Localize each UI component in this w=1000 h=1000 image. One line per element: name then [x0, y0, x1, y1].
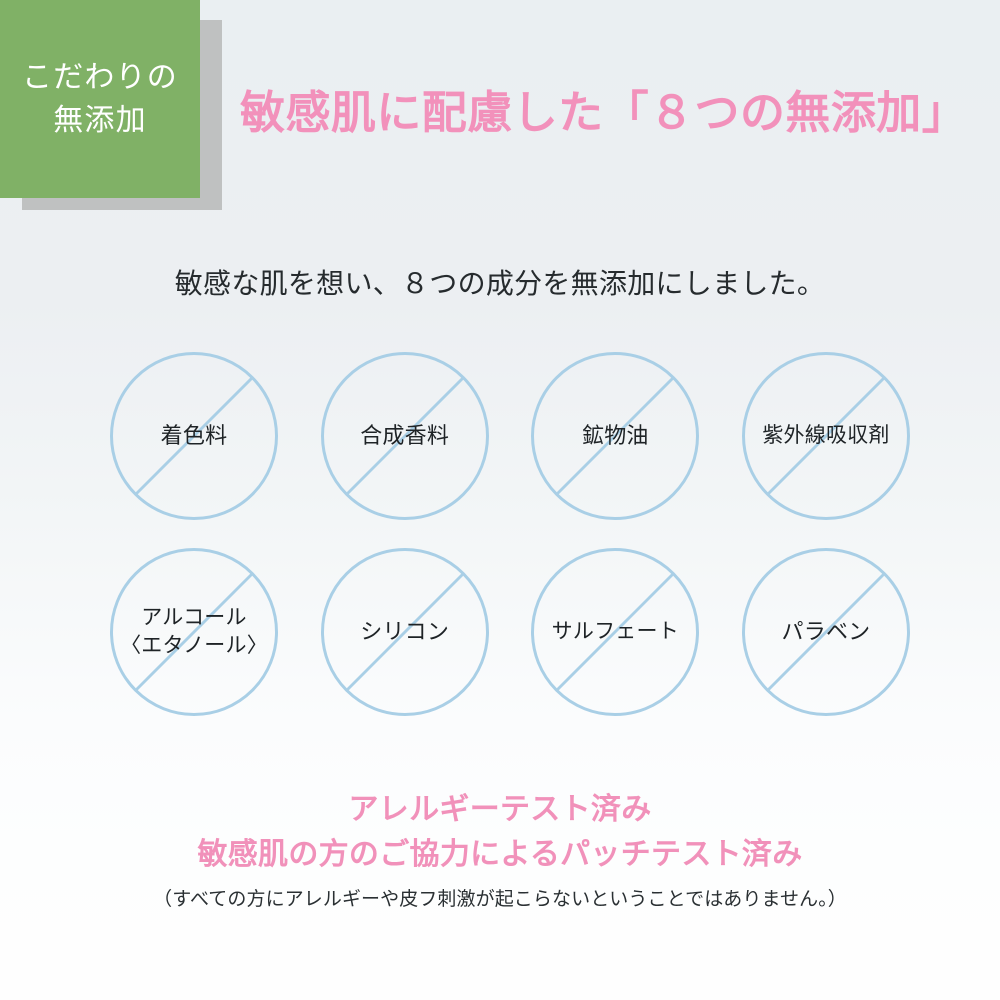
- free-from-label: パラベン: [782, 617, 871, 646]
- badge-green-block: こだわりの 無添加: [0, 0, 200, 198]
- free-from-label: サルフェート: [552, 618, 679, 646]
- free-from-label: 紫外線吸収剤: [762, 422, 889, 450]
- free-from-item: シリコン: [321, 548, 489, 716]
- patch-test-line: 敏感肌の方のご協力によるパッチテスト済み: [0, 835, 1000, 874]
- free-from-item: 紫外線吸収剤: [742, 352, 910, 520]
- free-from-item: サルフェート: [531, 548, 699, 716]
- page-title: 敏感肌に配慮した「８つの無添加」: [240, 88, 960, 138]
- free-from-row: アルコール 〈エタノール〉 シリコン サルフェート パラベン: [110, 548, 910, 716]
- free-from-grid: 着色料 合成香料 鉱物油 紫外線吸収剤: [110, 352, 910, 716]
- free-from-label: アルコール 〈エタノール〉: [120, 604, 268, 659]
- lead-text: 敏感な肌を想い、８つの成分を無添加にしました。: [0, 262, 1000, 302]
- disclaimer-note: （すべての方にアレルギーや皮フ刺激が起こらないということではありません。）: [0, 884, 1000, 911]
- free-from-item: 鉱物油: [531, 352, 699, 520]
- promo-graphic: こだわりの 無添加 敏感肌に配慮した「８つの無添加」 敏感な肌を想い、８つの成分…: [0, 0, 1000, 1000]
- free-from-label: 合成香料: [360, 421, 449, 450]
- badge-line-2: 無添加: [53, 99, 147, 142]
- free-from-label: シリコン: [360, 617, 449, 646]
- allergy-test-line: アレルギーテスト済み: [0, 790, 1000, 829]
- badge-line-1: こだわりの: [22, 56, 178, 99]
- free-from-item: アルコール 〈エタノール〉: [110, 548, 278, 716]
- free-from-item: パラベン: [742, 548, 910, 716]
- footer-block: アレルギーテスト済み 敏感肌の方のご協力によるパッチテスト済み （すべての方にア…: [0, 790, 1000, 911]
- free-from-item: 着色料: [110, 352, 278, 520]
- free-from-label: 鉱物油: [582, 421, 649, 450]
- free-from-label: 着色料: [161, 421, 228, 450]
- free-from-row: 着色料 合成香料 鉱物油 紫外線吸収剤: [110, 352, 910, 520]
- badge-container: こだわりの 無添加: [0, 0, 230, 220]
- free-from-item: 合成香料: [321, 352, 489, 520]
